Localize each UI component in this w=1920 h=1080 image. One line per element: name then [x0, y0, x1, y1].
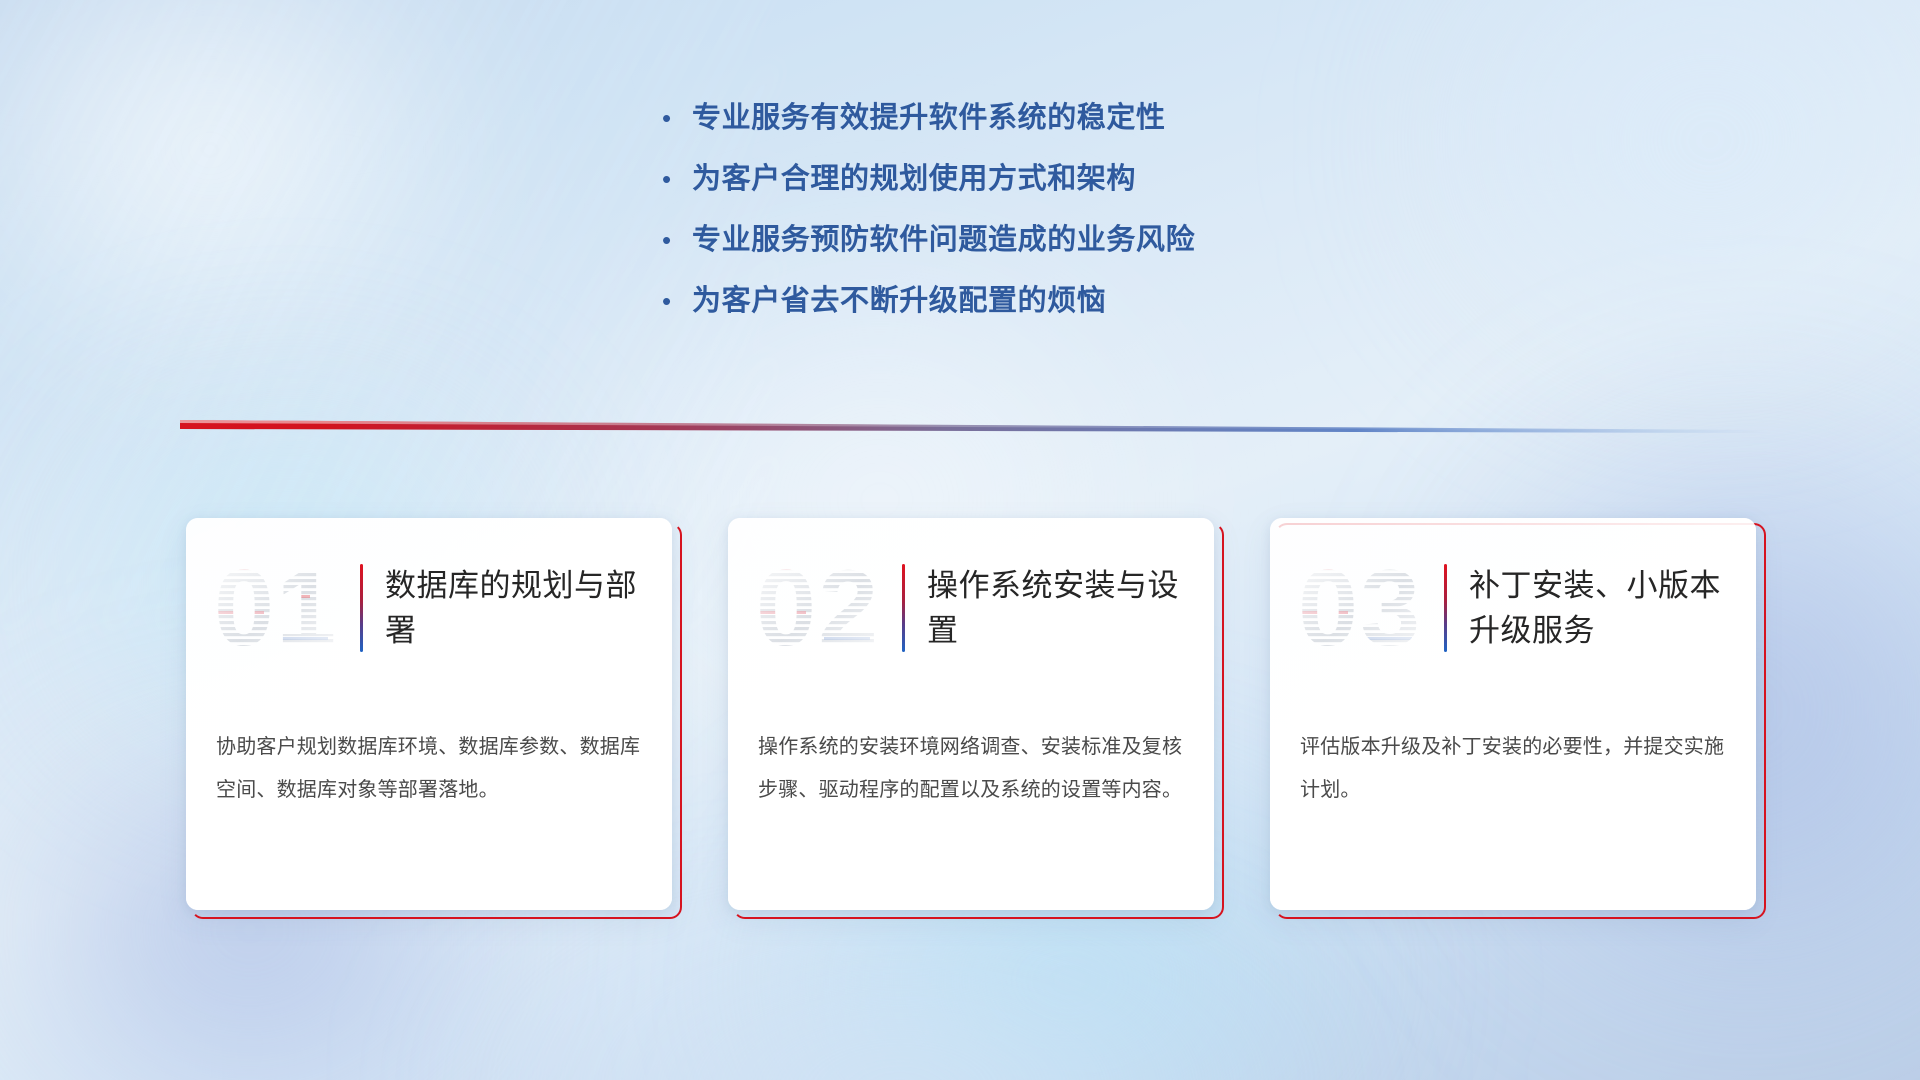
service-card-01[interactable]: 01 数: [186, 518, 672, 910]
background-glow-bottom: [300, 880, 1500, 1080]
bullet-text: 为客户合理的规划使用方式和架构: [692, 159, 1136, 199]
bullet-text: 专业服务预防软件问题造成的业务风险: [692, 220, 1195, 260]
card-title: 操作系统安装与设置: [927, 563, 1190, 653]
card-number-watermark-01: 01: [212, 549, 348, 667]
card-number-watermark-03: 03: [1296, 549, 1432, 667]
card-header: 02 操: [728, 518, 1214, 668]
background-glow-upper-left: [0, 0, 600, 460]
card-title-rule: [360, 564, 363, 652]
card-title: 数据库的规划与部署: [385, 563, 648, 653]
card-header: 03 补: [1270, 518, 1756, 668]
list-item: • 为客户省去不断升级配置的烦恼: [660, 281, 1480, 321]
bullet-dot-icon: •: [660, 159, 692, 199]
list-item: • 专业服务预防软件问题造成的业务风险: [660, 220, 1480, 260]
card-body-text: 协助客户规划数据库环境、数据库参数、数据库空间、数据库对象等部署落地。: [186, 668, 672, 812]
card-header: 01 数: [186, 518, 672, 668]
bullet-text: 为客户省去不断升级配置的烦恼: [692, 281, 1106, 321]
card-body-text: 操作系统的安装环境网络调查、安装标准及复核步骤、驱动程序的配置以及系统的设置等内…: [728, 668, 1214, 812]
card-title: 补丁安装、小版本升级服务: [1469, 563, 1732, 653]
service-card-row: 01 数: [186, 518, 1756, 910]
card-title-rule: [902, 564, 905, 652]
card-title-rule: [1444, 564, 1447, 652]
bullet-dot-icon: •: [660, 220, 692, 260]
bullet-dot-icon: •: [660, 281, 692, 321]
service-card-03[interactable]: 03 补: [1270, 518, 1756, 910]
bullet-dot-icon: •: [660, 98, 692, 138]
list-item: • 为客户合理的规划使用方式和架构: [660, 159, 1480, 199]
card-number-watermark-02: 02: [754, 549, 890, 667]
list-item: • 专业服务有效提升软件系统的稳定性: [660, 98, 1480, 138]
benefits-bullet-list: • 专业服务有效提升软件系统的稳定性 • 为客户合理的规划使用方式和架构 • 专…: [660, 98, 1480, 342]
bullet-text: 专业服务有效提升软件系统的稳定性: [692, 98, 1166, 138]
card-body-text: 评估版本升级及补丁安装的必要性，并提交实施计划。: [1270, 668, 1756, 812]
service-card-02[interactable]: 02 操: [728, 518, 1214, 910]
